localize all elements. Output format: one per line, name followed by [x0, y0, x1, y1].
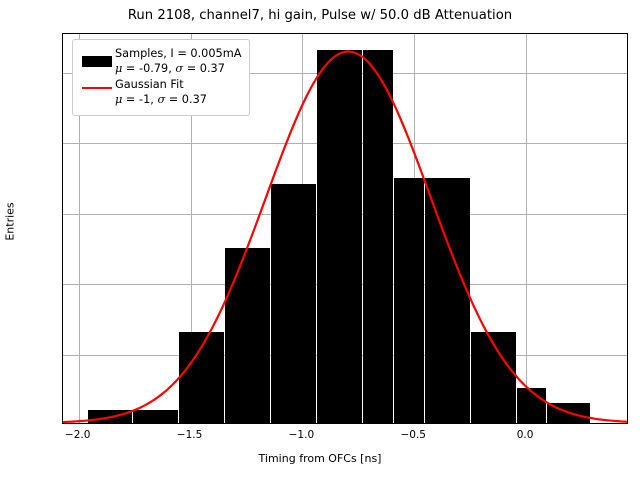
chart-title: Run 2108, channel7, hi gain, Pulse w/ 50… [0, 8, 640, 23]
x-tick-label: −0.5 [383, 429, 443, 441]
y-axis-label-container: Entries [2, 0, 20, 480]
legend-label-stats: μ = -1, σ = 0.37 [115, 93, 207, 108]
figure: Run 2108, channel7, hi gain, Pulse w/ 50… [0, 0, 640, 480]
legend-entry[interactable]: Samples, I = 0.005mAμ = -0.79, σ = 0.37 [79, 47, 241, 77]
legend-key [79, 47, 115, 67]
x-tick-mark [414, 423, 415, 424]
x-tick-label: 0.0 [495, 429, 555, 441]
legend[interactable]: Samples, I = 0.005mAμ = -0.79, σ = 0.37G… [72, 39, 250, 116]
legend-swatch-line-icon [82, 87, 112, 89]
y-tick-mark [62, 214, 63, 215]
x-tick-mark [526, 423, 527, 424]
y-tick-mark [62, 73, 63, 74]
x-tick-label: −2.0 [48, 429, 108, 441]
y-tick-mark [62, 284, 63, 285]
x-tick-mark [191, 423, 192, 424]
x-tick-mark [302, 423, 303, 424]
y-tick-mark [62, 355, 63, 356]
y-tick-mark [62, 143, 63, 144]
legend-entry[interactable]: Gaussian Fitμ = -1, σ = 0.37 [79, 78, 241, 108]
legend-swatch-patch-icon [82, 56, 112, 67]
y-axis-label: Entries [4, 192, 17, 252]
x-tick-label: −1.5 [160, 429, 220, 441]
legend-label-name: Gaussian Fit [115, 78, 207, 93]
legend-label: Gaussian Fitμ = -1, σ = 0.37 [115, 78, 207, 108]
legend-label-stats: μ = -0.79, σ = 0.37 [115, 62, 241, 77]
legend-key [79, 78, 115, 89]
legend-label-name: Samples, I = 0.005mA [115, 47, 241, 62]
x-axis-label: Timing from OFCs [ns] [0, 452, 640, 465]
x-tick-mark [79, 423, 80, 424]
legend-label: Samples, I = 0.005mAμ = -0.79, σ = 0.37 [115, 47, 241, 77]
x-tick-label: −1.0 [271, 429, 331, 441]
